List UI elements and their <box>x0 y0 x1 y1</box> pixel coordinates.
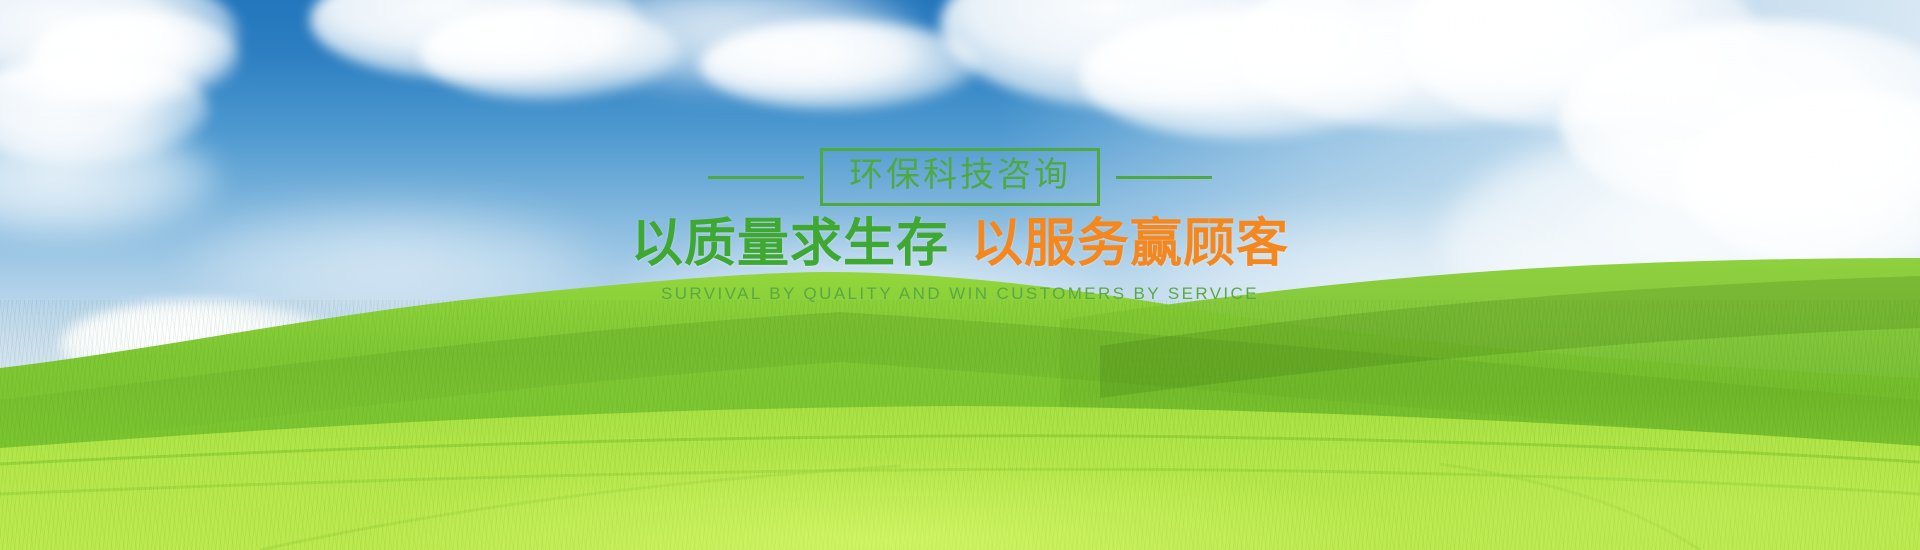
eyebrow-row: 环保科技咨询 <box>0 148 1920 206</box>
headline-subtitle: SURVIVAL BY QUALITY AND WIN CUSTOMERS BY… <box>0 284 1920 304</box>
headline: 以质量求生存以服务赢顾客 <box>0 218 1920 270</box>
headline-orange-text: 以服务赢顾客 <box>971 214 1289 274</box>
banner-content: 环保科技咨询 以质量求生存以服务赢顾客 SURVIVAL BY QUALITY … <box>0 148 1920 304</box>
category-title-text: 环保科技咨询 <box>849 158 1071 192</box>
decorative-rule-left <box>708 176 804 179</box>
hero-banner: 环保科技咨询 以质量求生存以服务赢顾客 SURVIVAL BY QUALITY … <box>0 0 1920 550</box>
headline-green-text: 以质量求生存 <box>631 214 949 274</box>
category-title-box: 环保科技咨询 <box>820 148 1100 206</box>
decorative-rule-right <box>1116 176 1212 179</box>
